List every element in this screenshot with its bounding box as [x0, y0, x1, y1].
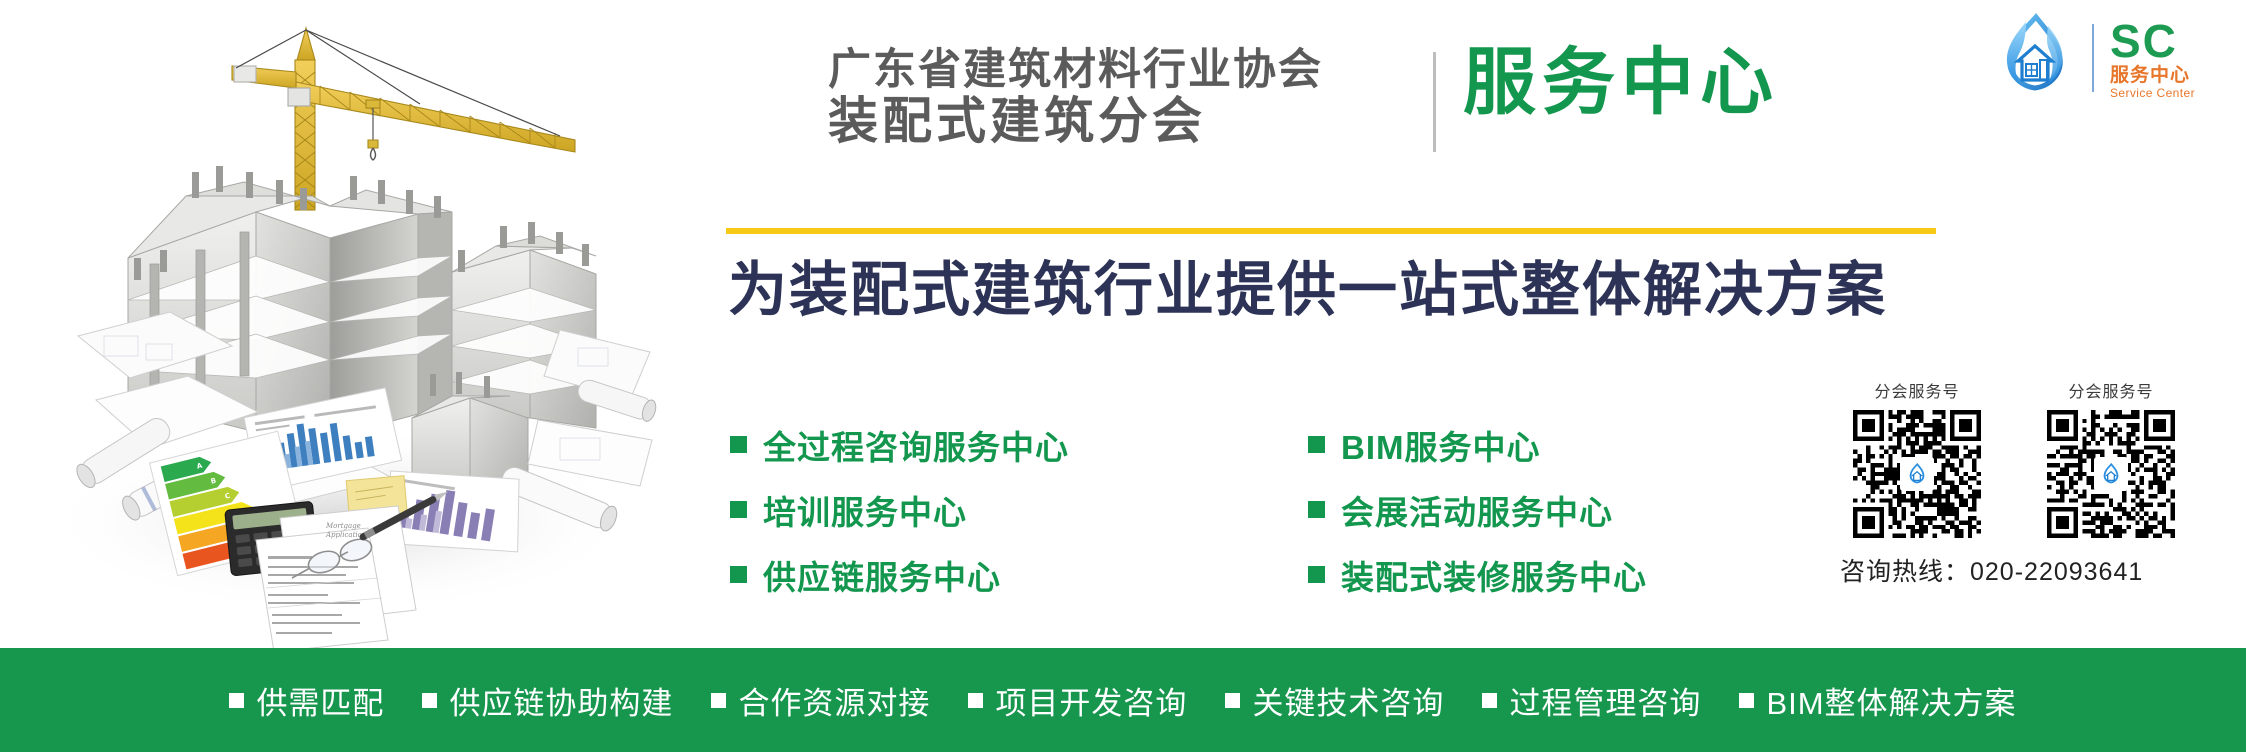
service-item[interactable]: 会展活动服务中心 — [1308, 477, 1647, 542]
service-item[interactable]: 培训服务中心 — [730, 477, 1069, 542]
bottom-bar-item[interactable]: 供需匹配 — [229, 678, 384, 723]
bottom-bar-item[interactable]: 供应链协助构建 — [422, 678, 673, 723]
construction-illustration: ABC DEF — [0, 0, 700, 648]
bottom-bar-item[interactable]: 关键技术咨询 — [1225, 678, 1444, 723]
sc-logo-text: SC 服务中心 Service Center — [2110, 18, 2195, 101]
qr-caption: 分会服务号 — [2032, 378, 2190, 402]
square-bullet-icon — [730, 436, 747, 453]
bottom-bar-item[interactable]: 过程管理咨询 — [1482, 678, 1701, 723]
service-item-label: 培训服务中心 — [763, 486, 967, 534]
service-item[interactable]: 全过程咨询服务中心 — [730, 412, 1069, 477]
bottom-bar-item-label: 供应链协助构建 — [449, 678, 673, 723]
service-item[interactable]: 供应链服务中心 — [730, 542, 1069, 607]
qr-center-logo-icon — [2094, 457, 2128, 491]
sc-letters: SC — [2110, 18, 2195, 64]
bottom-bar-item-label: 合作资源对接 — [738, 678, 930, 723]
bottom-services-bar: 供需匹配 供应链协助构建 合作资源对接 项目开发咨询 关键技术咨询 过程管理咨询 — [0, 648, 2246, 752]
service-item-label: 会展活动服务中心 — [1341, 486, 1613, 534]
service-item-label: 装配式装修服务中心 — [1341, 551, 1647, 599]
sc-chinese-label: 服务中心 — [2110, 65, 2195, 87]
square-bullet-icon — [1308, 501, 1325, 518]
square-bullet-icon — [1308, 436, 1325, 453]
qr-and-hotline-block: 分会服务号 分会服务号 — [1838, 378, 2238, 588]
service-item[interactable]: 装配式装修服务中心 — [1308, 542, 1647, 607]
bottom-bar-item-label: 项目开发咨询 — [995, 678, 1187, 723]
main-tagline: 为装配式建筑行业提供一站式整体解决方案 — [728, 258, 1887, 323]
square-bullet-icon — [1225, 693, 1240, 708]
org-name-line1: 广东省建筑材料行业协会 — [828, 48, 1428, 93]
square-bullet-icon — [229, 693, 244, 708]
hotline-text: 咨询热线：020-22093641 — [1838, 552, 2238, 588]
service-item[interactable]: BIM服务中心 — [1308, 412, 1647, 477]
service-center-title: 服务中心 — [1463, 46, 1779, 119]
qr-cell: 分会服务号 — [2032, 378, 2190, 538]
organization-name-block: 广东省建筑材料行业协会 装配式建筑分会 — [828, 48, 1428, 147]
bottom-bar-item-label: 供需匹配 — [256, 678, 384, 723]
service-item-label: BIM服务中心 — [1341, 421, 1541, 469]
qr-code-image[interactable] — [1853, 410, 1981, 538]
qr-code-image[interactable] — [2047, 410, 2175, 538]
yellow-divider-rule — [726, 228, 1936, 234]
square-bullet-icon — [1739, 693, 1754, 708]
brand-logo-area: SC 服务中心 Service Center — [1992, 12, 2232, 108]
header-vertical-divider — [1433, 52, 1436, 152]
service-column-left: 全过程咨询服务中心 培训服务中心 供应链服务中心 — [730, 412, 1069, 607]
logo-separator — [2092, 24, 2094, 92]
square-bullet-icon — [1482, 693, 1497, 708]
bottom-bar-item[interactable]: 项目开发咨询 — [968, 678, 1187, 723]
service-column-right: BIM服务中心 会展活动服务中心 装配式装修服务中心 — [1308, 412, 1647, 607]
org-name-line2: 装配式建筑分会 — [828, 95, 1428, 147]
bottom-bar-item-label: BIM整体解决方案 — [1766, 678, 2016, 723]
svg-text:Mortgage: Mortgage — [325, 522, 361, 530]
square-bullet-icon — [730, 566, 747, 583]
qr-center-logo-icon — [1900, 457, 1934, 491]
qr-cell: 分会服务号 — [1838, 378, 1996, 538]
bottom-bar-item[interactable]: 合作资源对接 — [711, 678, 930, 723]
service-item-label: 全过程咨询服务中心 — [763, 421, 1069, 469]
square-bullet-icon — [730, 501, 747, 518]
bottom-bar-item-label: 过程管理咨询 — [1509, 678, 1701, 723]
square-bullet-icon — [1308, 566, 1325, 583]
gdpcb-flame-house-icon — [1992, 12, 2078, 98]
square-bullet-icon — [422, 693, 437, 708]
square-bullet-icon — [968, 693, 983, 708]
bottom-bar-item-label: 关键技术咨询 — [1252, 678, 1444, 723]
bottom-bar-item[interactable]: BIM整体解决方案 — [1739, 678, 2016, 723]
service-item-label: 供应链服务中心 — [763, 551, 1001, 599]
promotional-banner: ABC DEF — [0, 0, 2246, 752]
qr-caption: 分会服务号 — [1838, 378, 1996, 402]
sc-english-label: Service Center — [2110, 87, 2195, 101]
square-bullet-icon — [711, 693, 726, 708]
